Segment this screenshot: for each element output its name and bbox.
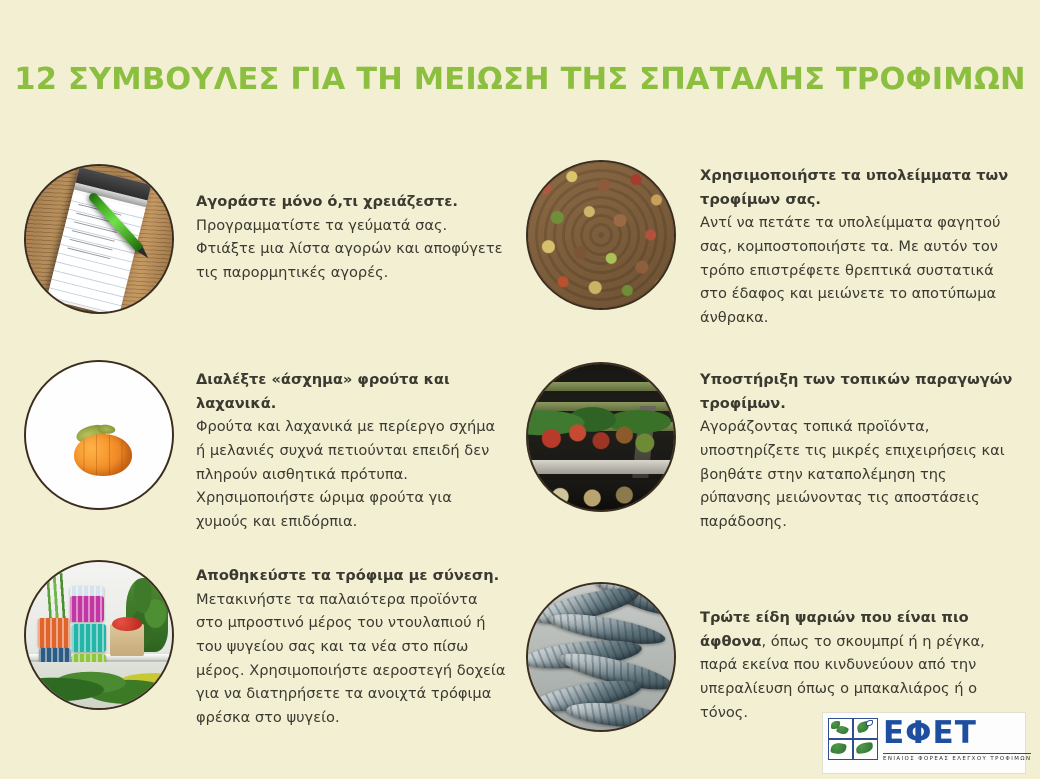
tip-text: Αποθηκεύστε τα τρόφιμα με σύνεση. Μετακι…: [196, 560, 508, 729]
tip-heading: Αποθηκεύστε τα τρόφιμα με σύνεση.: [196, 564, 508, 588]
logo-cell-produce-3: [829, 740, 852, 759]
efet-logo-icon: [828, 718, 878, 760]
tip-heading: Χρησιμοποιήστε τα υπολείμματα των τροφίμ…: [700, 164, 1018, 211]
mackerel-fish-photo: [526, 582, 676, 732]
storage-bin-teal: [72, 624, 106, 652]
tips-grid: Αγοράστε μόνο ό,τι χρειάζεστε. Προγραμμα…: [0, 160, 1040, 740]
tips-column-right: Χρησιμοποιήστε τα υπολείμματα των τροφίμ…: [518, 160, 1023, 740]
efet-logo-text: ΕΦΕΤ ΕΝΙΑΙΟΣ ΦΟΡΕΑΣ ΕΛΕΓΧΟΥ ΤΡΟΦΙΜΩΝ: [883, 718, 1031, 762]
efet-wordmark: ΕΦΕΤ: [883, 718, 1031, 749]
compost-food-scraps-photo: [526, 160, 676, 310]
storage-bin-magenta: [70, 596, 104, 622]
logo-cell-produce-4: [854, 740, 877, 759]
strawberry-punnet-icon: [110, 624, 144, 656]
efet-logo: ΕΦΕΤ ΕΝΙΑΙΟΣ ΦΟΡΕΑΣ ΕΛΕΓΧΟΥ ΤΡΟΦΙΜΩΝ: [822, 712, 1026, 774]
tip-body: Φρούτα και λαχανικά με περίεργο σχήμα ή …: [196, 415, 508, 533]
tip-heading: Υποστήριξη των τοπικών παραγωγών τροφίμω…: [700, 368, 1018, 415]
tip-card-use-leftovers: Χρησιμοποιήστε τα υπολείμματα των τροφίμ…: [518, 160, 1023, 329]
tip-body: Αντί να πετάτε τα υπολείμματα φαγητού σα…: [700, 211, 1018, 329]
tip-text: Διαλέξτε «άσχημα» φρούτα και λαχανικά. Φ…: [196, 360, 508, 533]
tips-column-left: Αγοράστε μόνο ό,τι χρειάζεστε. Προγραμμα…: [14, 160, 519, 740]
mackerel-icon: [565, 699, 667, 731]
tip-body: Μετακινήστε τα παλαιότερα προϊόντα στο μ…: [196, 588, 508, 730]
market-slat: [528, 382, 674, 391]
tip-card-store-food-wisely: Αποθηκεύστε τα τρόφιμα με σύνεση. Μετακι…: [14, 560, 519, 729]
tomatoes-produce-icon: [528, 406, 674, 462]
tip-card-buy-only-what-you-need: Αγοράστε μόνο ό,τι χρειάζεστε. Προγραμμα…: [14, 164, 519, 314]
tip-card-eat-abundant-fish: Τρώτε είδη ψαριών που είναι πιο άφθονα, …: [518, 582, 1023, 732]
fridge-storage-containers-photo: [24, 560, 174, 710]
tip-body: Προγραμματίστε τα γεύματά σας. Φτιάξτε μ…: [196, 214, 508, 285]
local-farmers-market-photo: [526, 362, 676, 512]
storage-bin-orange: [38, 618, 70, 648]
infographic-poster: 12 ΣΥΜΒΟΥΛΕΣ ΓΙΑ ΤΗ ΜΕΙΩΣΗ ΤΗΣ ΣΠΑΤΑΛΗΣ …: [0, 0, 1040, 779]
tip-body: Αγοράζοντας τοπικά προϊόντα, υποστηρίζετ…: [700, 415, 1018, 533]
tip-text: Υποστήριξη των τοπικών παραγωγών τροφίμω…: [700, 362, 1018, 533]
tip-heading: Αγοράστε μόνο ό,τι χρειάζεστε.: [196, 190, 508, 214]
pumpkin-icon: [74, 434, 132, 476]
tip-card-support-local-producers: Υποστήριξη των τοπικών παραγωγών τροφίμω…: [518, 362, 1023, 533]
leafy-greens-icon: [26, 662, 172, 708]
logo-cell-produce-1: [829, 719, 852, 738]
market-lower-crates: [528, 480, 674, 510]
tip-text: Αγοράστε μόνο ό,τι χρειάζεστε. Προγραμμα…: [196, 164, 508, 285]
shopping-list-notepad-photo: [24, 164, 174, 314]
market-counter: [528, 460, 674, 474]
efet-subtitle: ΕΝΙΑΙΟΣ ΦΟΡΕΑΣ ΕΛΕΓΧΟΥ ΤΡΟΦΙΜΩΝ: [883, 753, 1031, 762]
tip-text: Χρησιμοποιήστε τα υπολείμματα των τροφίμ…: [700, 160, 1018, 329]
tip-text: Τρώτε είδη ψαριών που είναι πιο άφθονα, …: [700, 582, 1018, 724]
tip-card-ugly-fruits-vegetables: Διαλέξτε «άσχημα» φρούτα και λαχανικά. Φ…: [14, 360, 519, 533]
tip-heading: Διαλέξτε «άσχημα» φρούτα και λαχανικά.: [196, 368, 508, 415]
imperfect-pumpkin-photo: [24, 360, 174, 510]
logo-cell-produce-2: [854, 719, 877, 738]
page-title: 12 ΣΥΜΒΟΥΛΕΣ ΓΙΑ ΤΗ ΜΕΙΩΣΗ ΤΗΣ ΣΠΑΤΑΛΗΣ …: [0, 62, 1040, 97]
